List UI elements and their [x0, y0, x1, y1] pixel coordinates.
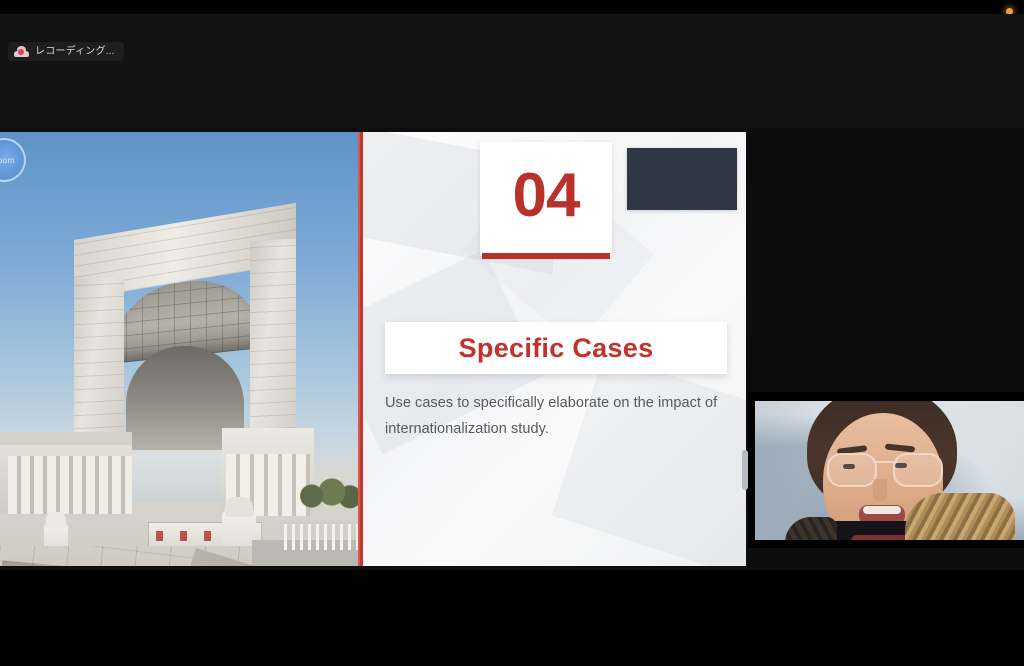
section-number-underline [482, 253, 610, 259]
university-gate-photo: zoom [0, 132, 358, 566]
window-top-strip [0, 0, 1024, 14]
recording-status-badge[interactable]: レコーディング... [8, 42, 124, 61]
gate-pylon-left [74, 277, 124, 456]
slide-body-text: Use cases to specifically elaborate on t… [385, 390, 727, 442]
slide-title-band: Specific Cases [385, 322, 727, 374]
fur-collar [905, 493, 1015, 540]
section-number: 04 [513, 165, 580, 227]
fence [284, 524, 358, 550]
participant-video-feed [755, 401, 1024, 540]
campus-building-left [0, 432, 132, 514]
cloud-recording-icon [14, 46, 29, 57]
slide-title: Specific Cases [459, 333, 654, 364]
recording-status-label: レコーディング... [35, 46, 115, 57]
video-panel-drag-handle[interactable] [742, 450, 748, 490]
shared-presentation-slide[interactable]: zoom 04 Specific Cases Use [0, 132, 746, 566]
gate-pylon-right [250, 239, 296, 456]
section-number-card: 04 [480, 142, 612, 256]
slide-content-panel: 04 Specific Cases Use cases to specifica… [363, 132, 746, 566]
shared-screen-stage: zoom 04 Specific Cases Use [0, 128, 1024, 570]
navy-accent-block [627, 148, 737, 210]
participant-video-thumbnail[interactable] [748, 392, 1024, 548]
trees [300, 472, 358, 512]
background-polygon [552, 354, 746, 566]
background-city [118, 450, 228, 502]
meeting-top-bar: レコーディング... [0, 14, 1024, 128]
zoom-meeting-window: レコーディング... [0, 0, 1024, 666]
